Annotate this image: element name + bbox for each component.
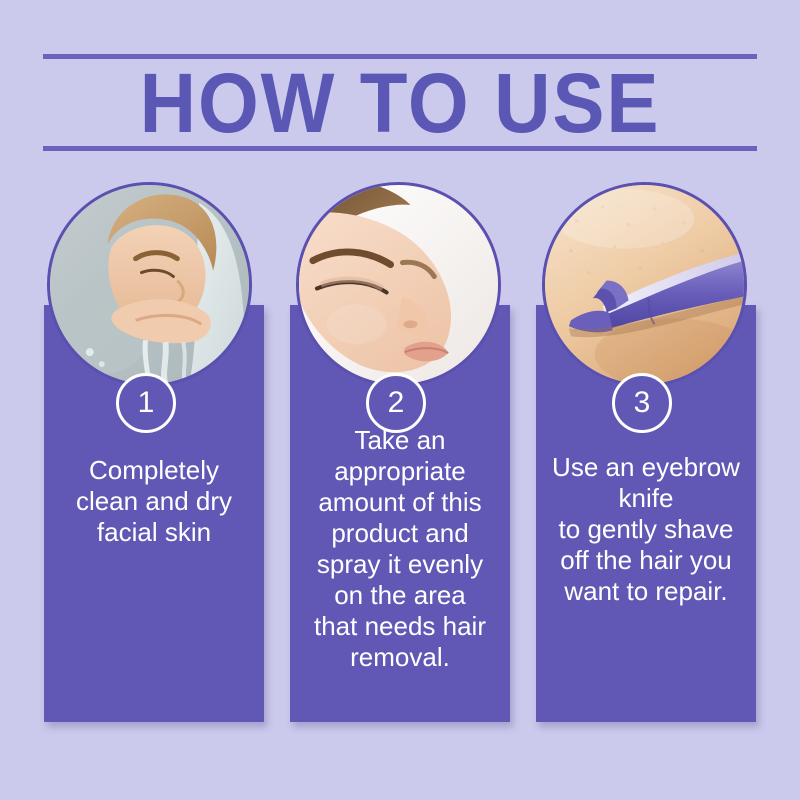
step-number-badge-2: 2 <box>366 373 426 433</box>
title-rule-bottom <box>43 146 757 151</box>
step-card-3: 3 Use an eyebrow knife to gently shave o… <box>536 180 756 725</box>
page-title: HOW TO USE <box>68 60 732 146</box>
step-card-2: 2 Take an appropriate amount of this pro… <box>290 180 510 725</box>
eyebrow-knife-on-skin-photo <box>542 182 747 387</box>
step-text-2: Take an appropriate amount of this produ… <box>296 425 504 673</box>
step-text-3: Use an eyebrow knife to gently shave off… <box>542 452 750 607</box>
woman-face-closeup-photo <box>296 182 501 387</box>
header: HOW TO USE <box>43 54 757 154</box>
step-card-1: 1 Completely clean and dry facial skin <box>44 180 264 725</box>
steps-row: 1 Completely clean and dry facial skin <box>44 180 756 725</box>
step-number-badge-1: 1 <box>116 373 176 433</box>
step-number-badge-3: 3 <box>612 373 672 433</box>
how-to-use-poster: HOW TO USE <box>0 0 800 800</box>
woman-washing-face-photo <box>47 182 252 387</box>
step-text-1: Completely clean and dry facial skin <box>50 455 258 548</box>
